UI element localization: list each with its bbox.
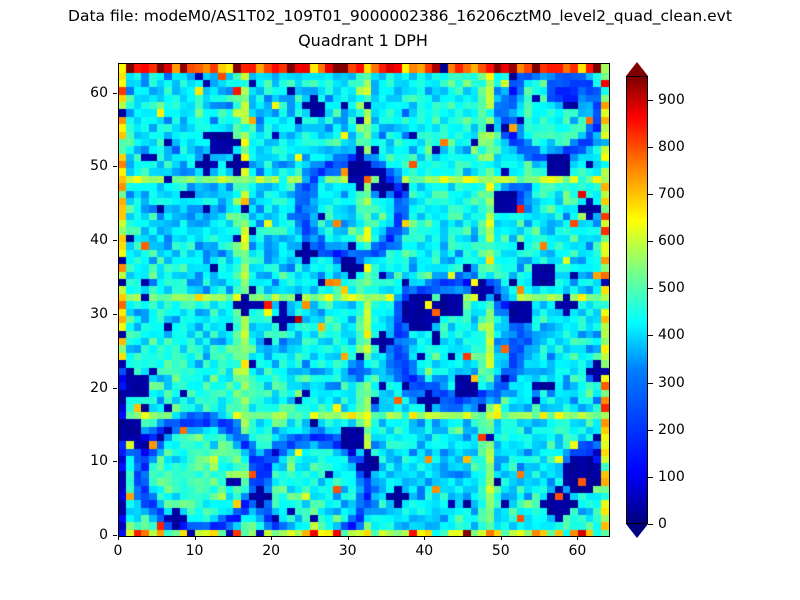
page-title: Quadrant 1 DPH bbox=[118, 31, 608, 50]
colorbar-tick-label: 900 bbox=[658, 92, 685, 108]
colorbar-tick-label: 400 bbox=[658, 327, 685, 343]
colorbar-tick-mark bbox=[648, 241, 653, 242]
colorbar-tick-label: 100 bbox=[658, 469, 685, 485]
colorbar-tick-label: 300 bbox=[658, 375, 685, 391]
y-tick-label: 50 bbox=[70, 158, 108, 174]
y-tick-label: 0 bbox=[70, 527, 108, 543]
colorbar: 0100200300400500600700800900 bbox=[626, 62, 650, 538]
x-tick-label: 0 bbox=[114, 543, 123, 559]
y-tick-label: 60 bbox=[70, 85, 108, 101]
y-tick-mark bbox=[113, 93, 117, 94]
x-tick-label: 20 bbox=[262, 543, 280, 559]
dph-heatmap-image bbox=[119, 64, 609, 536]
y-tick-mark bbox=[113, 314, 117, 315]
colorbar-extend-max-arrow bbox=[626, 62, 648, 76]
x-tick-mark bbox=[501, 536, 502, 540]
colorbar-tick-label: 700 bbox=[658, 186, 685, 202]
x-tick-label: 30 bbox=[339, 543, 357, 559]
x-tick-label: 60 bbox=[568, 543, 586, 559]
x-tick-mark bbox=[118, 536, 119, 540]
y-tick-label: 30 bbox=[70, 306, 108, 322]
y-tick-mark bbox=[113, 535, 117, 536]
y-tick-mark bbox=[113, 240, 117, 241]
heatmap-axes bbox=[118, 63, 610, 537]
x-tick-mark bbox=[271, 536, 272, 540]
x-tick-mark bbox=[424, 536, 425, 540]
colorbar-tick-label: 800 bbox=[658, 139, 685, 155]
data-file-label: Data file: modeM0/AS1T02_109T01_90000023… bbox=[0, 7, 800, 25]
colorbar-tick-mark bbox=[648, 288, 653, 289]
colorbar-tick-mark bbox=[648, 477, 653, 478]
y-tick-label: 10 bbox=[70, 453, 108, 469]
colorbar-tick-label: 500 bbox=[658, 280, 685, 296]
x-tick-mark bbox=[577, 536, 578, 540]
colorbar-tick-mark bbox=[648, 100, 653, 101]
colorbar-tick-mark bbox=[648, 335, 653, 336]
colorbar-gradient bbox=[626, 76, 648, 524]
x-tick-mark bbox=[195, 536, 196, 540]
y-tick-mark bbox=[113, 388, 117, 389]
x-tick-label: 50 bbox=[492, 543, 510, 559]
y-tick-mark bbox=[113, 166, 117, 167]
y-tick-mark bbox=[113, 461, 117, 462]
x-tick-label: 40 bbox=[415, 543, 433, 559]
colorbar-tick-label: 0 bbox=[658, 516, 667, 532]
y-tick-label: 40 bbox=[70, 232, 108, 248]
x-tick-mark bbox=[348, 536, 349, 540]
colorbar-tick-label: 200 bbox=[658, 422, 685, 438]
y-tick-label: 20 bbox=[70, 380, 108, 396]
colorbar-tick-label: 600 bbox=[658, 233, 685, 249]
colorbar-tick-mark bbox=[648, 147, 653, 148]
x-tick-label: 10 bbox=[186, 543, 204, 559]
colorbar-extend-min-arrow bbox=[626, 524, 648, 538]
matplotlib-figure: Data file: modeM0/AS1T02_109T01_90000023… bbox=[0, 0, 800, 600]
colorbar-tick-mark bbox=[648, 194, 653, 195]
colorbar-tick-mark bbox=[648, 524, 653, 525]
colorbar-tick-mark bbox=[648, 430, 653, 431]
colorbar-tick-mark bbox=[648, 383, 653, 384]
